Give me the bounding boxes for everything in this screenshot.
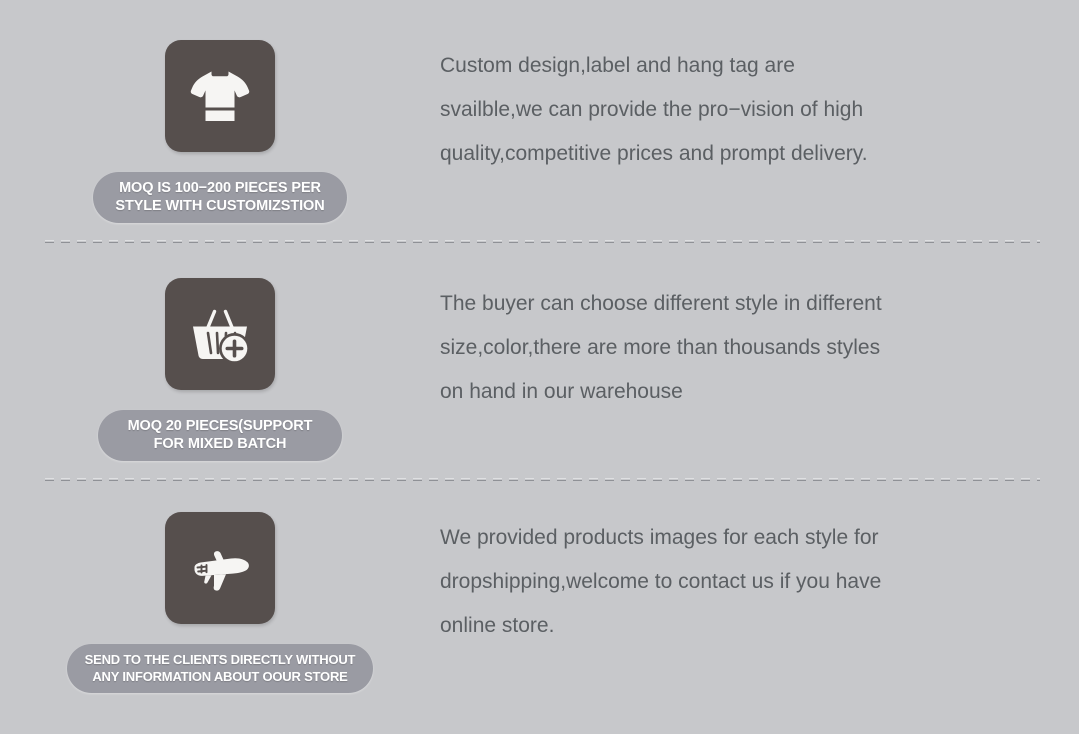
feature-badge-column: MOQ IS 100−200 PIECES PER STYLE WITH CUS… (0, 28, 440, 223)
shopping-basket-add-icon (184, 298, 256, 370)
tshirt-icon-tile (165, 40, 275, 152)
feature-badge-column: MOQ 20 PIECES(SUPPORT FOR MIXED BATCH (0, 266, 440, 461)
divider-highlight (45, 240, 1040, 241)
feature-row-mixed-batch: MOQ 20 PIECES(SUPPORT FOR MIXED BATCH Th… (0, 266, 1079, 461)
feature-description: The buyer can choose different style in … (440, 282, 1020, 414)
service-highlights-page: MOQ IS 100−200 PIECES PER STYLE WITH CUS… (0, 0, 1079, 734)
divider-dash (45, 242, 1040, 243)
badge-line-2: ANY INFORMATION ABOUT OOUR STORE (92, 669, 347, 684)
airplane-icon-tile (165, 512, 275, 624)
badge-line-1: MOQ IS 100−200 PIECES PER (119, 180, 321, 196)
description-line-3: on hand in our warehouse (440, 370, 1020, 414)
description-line-2: svailble,we can provide the pro−vision o… (440, 88, 1020, 132)
tshirt-icon (184, 60, 256, 132)
feature-description: Custom design,label and hang tag are sva… (440, 44, 1020, 176)
badge-line-2: STYLE WITH CUSTOMIZSTION (115, 198, 324, 214)
feature-text-column: We provided products images for each sty… (440, 500, 1079, 648)
divider-1 (45, 240, 1040, 243)
badge-line-1: SEND TO THE CLIENTS DIRECTLY WITHOUT (85, 652, 356, 667)
divider-dash (45, 480, 1040, 481)
feature-badge-column: SEND TO THE CLIENTS DIRECTLY WITHOUT ANY… (0, 500, 440, 693)
badge-dropship-privacy: SEND TO THE CLIENTS DIRECTLY WITHOUT ANY… (67, 644, 374, 693)
description-line-1: The buyer can choose different style in … (440, 282, 1020, 326)
description-line-3: quality,competitive prices and prompt de… (440, 132, 1020, 176)
badge-moq-customization: MOQ IS 100−200 PIECES PER STYLE WITH CUS… (93, 172, 346, 223)
badge-line-1: MOQ 20 PIECES(SUPPORT (128, 418, 313, 434)
badge-moq-mixed-batch: MOQ 20 PIECES(SUPPORT FOR MIXED BATCH (98, 410, 342, 461)
description-line-2: size,color,there are more than thousands… (440, 326, 1020, 370)
divider-highlight (45, 478, 1040, 479)
shopping-basket-add-icon-tile (165, 278, 275, 390)
divider-2 (45, 478, 1040, 481)
description-line-1: Custom design,label and hang tag are (440, 44, 1020, 88)
badge-line-2: FOR MIXED BATCH (154, 436, 287, 452)
feature-text-column: Custom design,label and hang tag are sva… (440, 28, 1079, 176)
feature-text-column: The buyer can choose different style in … (440, 266, 1079, 414)
feature-row-customization: MOQ IS 100−200 PIECES PER STYLE WITH CUS… (0, 28, 1079, 223)
feature-row-dropshipping: SEND TO THE CLIENTS DIRECTLY WITHOUT ANY… (0, 500, 1079, 693)
feature-description: We provided products images for each sty… (440, 516, 1020, 648)
description-line-3: online store. (440, 604, 1020, 648)
airplane-icon (184, 532, 256, 604)
description-line-2: dropshipping,welcome to contact us if yo… (440, 560, 1020, 604)
description-line-1: We provided products images for each sty… (440, 516, 1020, 560)
